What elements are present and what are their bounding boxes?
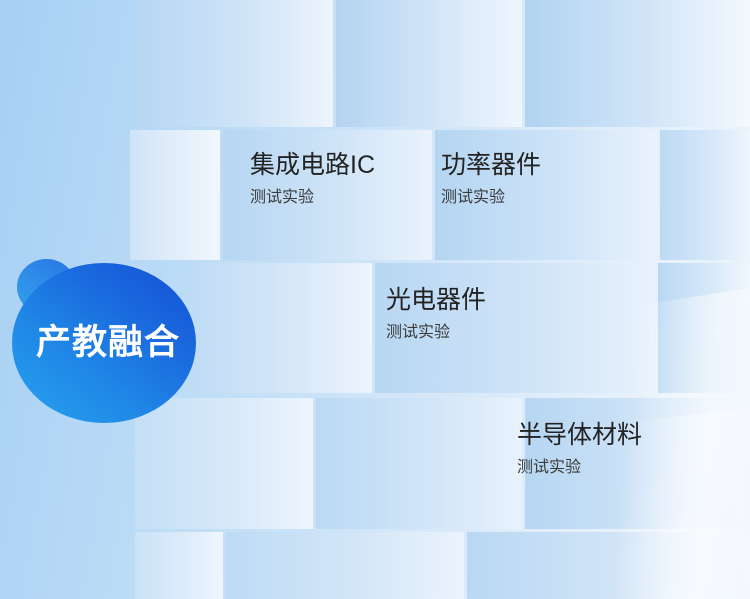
category-title: 半导体材料 (517, 422, 642, 450)
category-title: 集成电路IC (250, 152, 375, 180)
category-subtitle: 测试实验 (517, 459, 642, 477)
category-title: 功率器件 (441, 152, 541, 180)
badge-group: 产教融合 (0, 120, 210, 315)
category-cell[interactable]: 功率器件测试实验 (441, 152, 541, 206)
background-tile (336, 0, 522, 127)
background-tile (660, 130, 750, 260)
background-tile (658, 263, 750, 393)
background-tile (135, 532, 223, 599)
category-cell[interactable]: 半导体材料测试实验 (517, 422, 642, 476)
background-tile (190, 263, 372, 393)
background-tile (226, 532, 464, 599)
category-cell[interactable]: 光电器件测试实验 (386, 287, 486, 341)
badge-label: 产教融合 (18, 325, 198, 360)
background-tile (467, 532, 750, 599)
category-subtitle: 测试实验 (386, 324, 486, 342)
background-tile (316, 398, 522, 529)
category-title: 光电器件 (386, 287, 486, 315)
background-tile (525, 0, 750, 127)
category-subtitle: 测试实验 (250, 189, 375, 207)
background-tile (135, 398, 313, 529)
category-cell[interactable]: 集成电路IC测试实验 (250, 152, 375, 206)
category-subtitle: 测试实验 (441, 189, 541, 207)
background-tile (135, 0, 333, 127)
poster-canvas: 产教融合 集成电路IC测试实验功率器件测试实验光电器件测试实验半导体材料测试实验 (0, 0, 750, 599)
